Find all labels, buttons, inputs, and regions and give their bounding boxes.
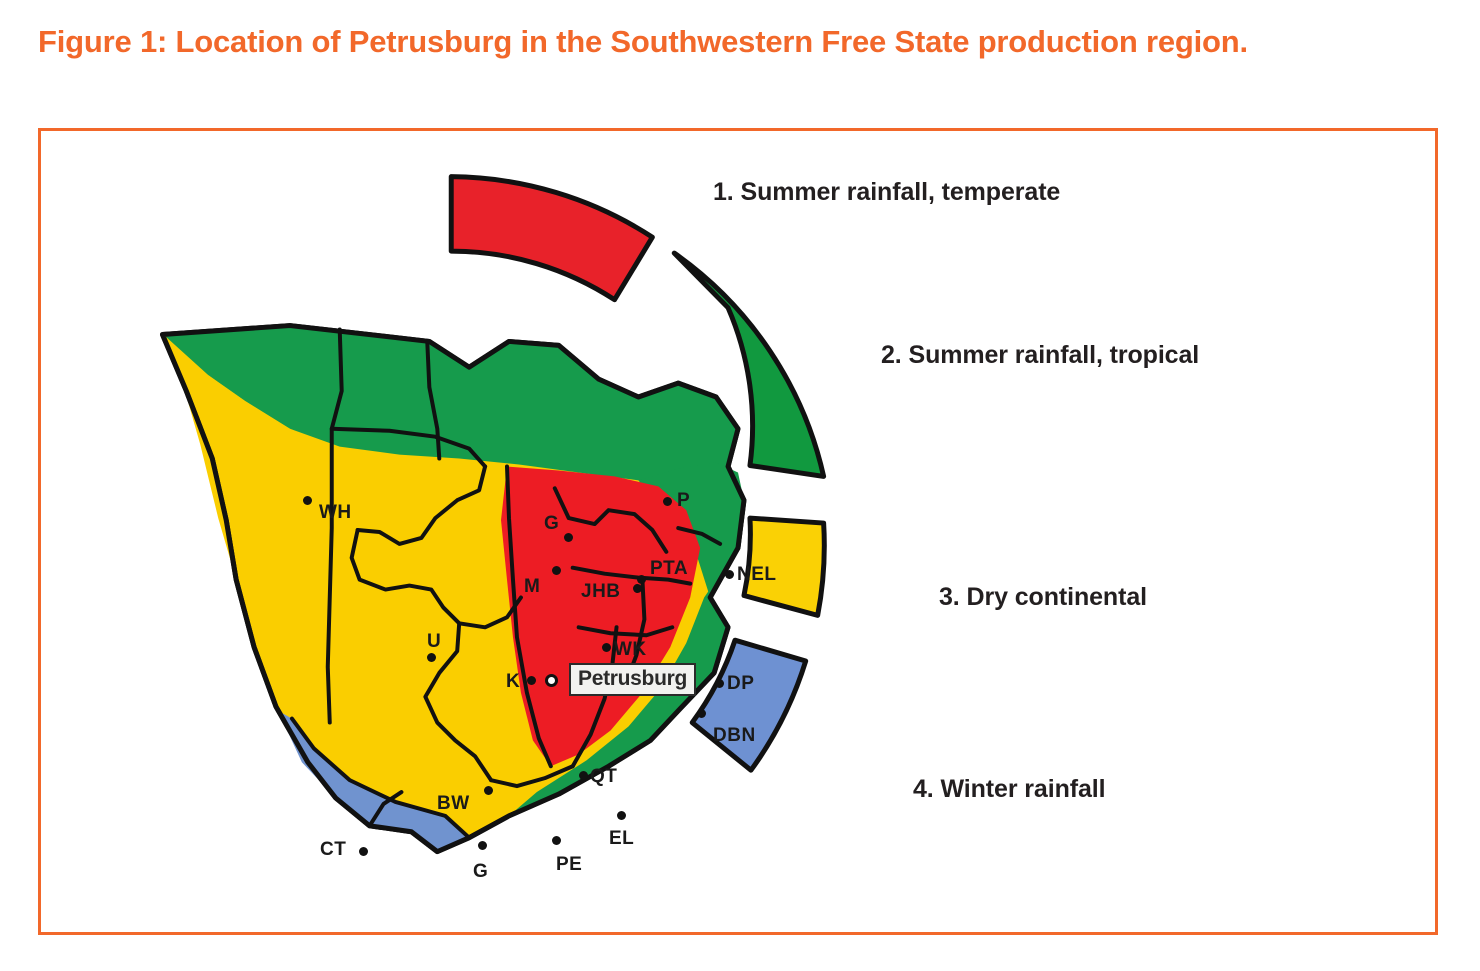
city-label-k: K xyxy=(506,671,520,693)
city-dot-jhb xyxy=(633,584,642,593)
petrusburg-label-box: Petrusburg xyxy=(569,663,696,696)
city-label-dbn: DBN xyxy=(713,725,756,747)
city-label-qt: QT xyxy=(590,766,617,788)
city-dot-k xyxy=(527,676,536,685)
city-dot-p xyxy=(663,497,672,506)
legend-label-summer-rainfall-temperate: 1. Summer rainfall, temperate xyxy=(713,178,1060,207)
city-dot-qt xyxy=(579,771,588,780)
city-label-g2: G xyxy=(473,861,488,883)
city-label-ct: CT xyxy=(320,839,346,861)
figure-frame: 1. Summer rainfall, temperate 2. Summer … xyxy=(38,128,1438,935)
city-label-wh: WH xyxy=(319,502,352,524)
legend-label-dry-continental: 3. Dry continental xyxy=(939,583,1147,612)
city-dot-m xyxy=(552,566,561,575)
city-dot-el xyxy=(617,811,626,820)
page-title: Figure 1: Location of Petrusburg in the … xyxy=(38,22,1298,62)
city-label-u: U xyxy=(427,631,441,653)
city-label-m: M xyxy=(524,576,540,598)
city-dot-pe xyxy=(552,836,561,845)
city-label-pta: PTA xyxy=(650,558,688,580)
city-label-nel: NEL xyxy=(737,564,777,586)
city-label-p: P xyxy=(677,490,690,512)
petrusburg-marker-icon xyxy=(545,674,558,687)
city-label-bw: BW xyxy=(437,793,470,815)
city-dot-ct xyxy=(359,847,368,856)
city-dot-g xyxy=(564,533,573,542)
legend-label-summer-rainfall-tropical: 2. Summer rainfall, tropical xyxy=(881,341,1199,370)
city-dot-bw xyxy=(484,786,493,795)
city-label-el: EL xyxy=(609,828,634,850)
map-and-legend-graphic xyxy=(41,131,1435,932)
city-dot-dbn xyxy=(697,709,706,718)
city-dot-g2 xyxy=(478,841,487,850)
city-dot-pta xyxy=(637,575,646,584)
city-dot-nel xyxy=(725,570,734,579)
city-label-pe: PE xyxy=(556,854,582,876)
city-dot-u xyxy=(427,653,436,662)
city-dot-wh xyxy=(303,496,312,505)
city-dot-dp xyxy=(715,679,724,688)
southern-africa-map xyxy=(162,326,743,852)
city-dot-wk xyxy=(602,643,611,652)
legend-label-winter-rainfall: 4. Winter rainfall xyxy=(913,775,1105,804)
legend-swatch-red-arc xyxy=(451,177,652,300)
city-label-wk: WK xyxy=(614,639,647,661)
city-label-jhb: JHB xyxy=(581,581,621,603)
city-label-g: G xyxy=(544,513,559,535)
city-label-dp: DP xyxy=(727,673,754,695)
